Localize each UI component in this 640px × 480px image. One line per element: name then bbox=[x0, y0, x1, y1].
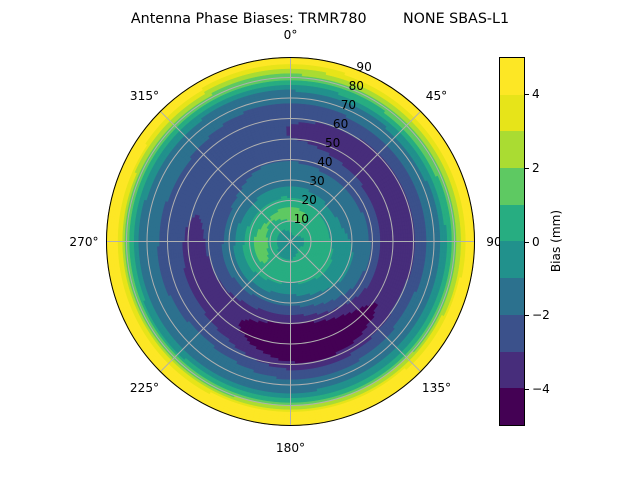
colorbar-band bbox=[500, 168, 524, 205]
theta-tick-225: 225° bbox=[130, 381, 159, 395]
colorbar-band bbox=[500, 241, 524, 278]
page-title: Antenna Phase Biases: TRMR780 NONE SBAS-… bbox=[0, 11, 640, 27]
polar-gridlines bbox=[106, 57, 475, 426]
theta-tick-135: 135° bbox=[422, 381, 451, 395]
colorbar-band bbox=[500, 315, 524, 352]
polar-data-region bbox=[106, 57, 475, 426]
colorbar-tick-label: 4 bbox=[532, 87, 540, 101]
r-tick-50: 50 bbox=[325, 136, 340, 150]
colorbar-band bbox=[500, 278, 524, 315]
r-tick-40: 40 bbox=[317, 155, 332, 169]
colorbar-band bbox=[500, 95, 524, 132]
colorbar-axis-label: Bias (mm) bbox=[549, 210, 563, 272]
colorbar-tick-label: −2 bbox=[532, 308, 550, 322]
theta-tick-270: 270° bbox=[69, 235, 98, 249]
theta-tick-0: 0° bbox=[284, 28, 298, 42]
r-tick-20: 20 bbox=[301, 193, 316, 207]
colorbar-band bbox=[500, 352, 524, 389]
colorbar-tick-mark bbox=[525, 389, 529, 390]
r-tick-80: 80 bbox=[349, 79, 364, 93]
colorbar-tick-mark bbox=[525, 242, 529, 243]
r-tick-10: 10 bbox=[294, 212, 309, 226]
polar-plot[interactable] bbox=[106, 57, 475, 426]
r-tick-60: 60 bbox=[333, 117, 348, 131]
colorbar-tick-mark bbox=[525, 315, 529, 316]
colorbar-band bbox=[500, 58, 524, 95]
figure-canvas: Antenna Phase Biases: TRMR780 NONE SBAS-… bbox=[0, 0, 640, 480]
theta-tick-45: 45° bbox=[426, 89, 447, 103]
r-tick-70: 70 bbox=[341, 98, 356, 112]
colorbar-tick-mark bbox=[525, 94, 529, 95]
r-tick-30: 30 bbox=[309, 174, 324, 188]
colorbar-tick-mark bbox=[525, 168, 529, 169]
colorbar-band bbox=[500, 388, 524, 425]
theta-tick-180: 180° bbox=[276, 441, 305, 455]
colorbar-tick-label: −4 bbox=[532, 382, 550, 396]
theta-tick-315: 315° bbox=[130, 89, 159, 103]
colorbar[interactable]: −4−2024 bbox=[499, 57, 525, 426]
colorbar-band bbox=[500, 205, 524, 242]
colorbar-band bbox=[500, 131, 524, 168]
colorbar-tick-label: 0 bbox=[532, 235, 540, 249]
colorbar-tick-label: 2 bbox=[532, 161, 540, 175]
colorbar-gradient bbox=[499, 57, 525, 426]
r-tick-90: 90 bbox=[356, 60, 371, 74]
